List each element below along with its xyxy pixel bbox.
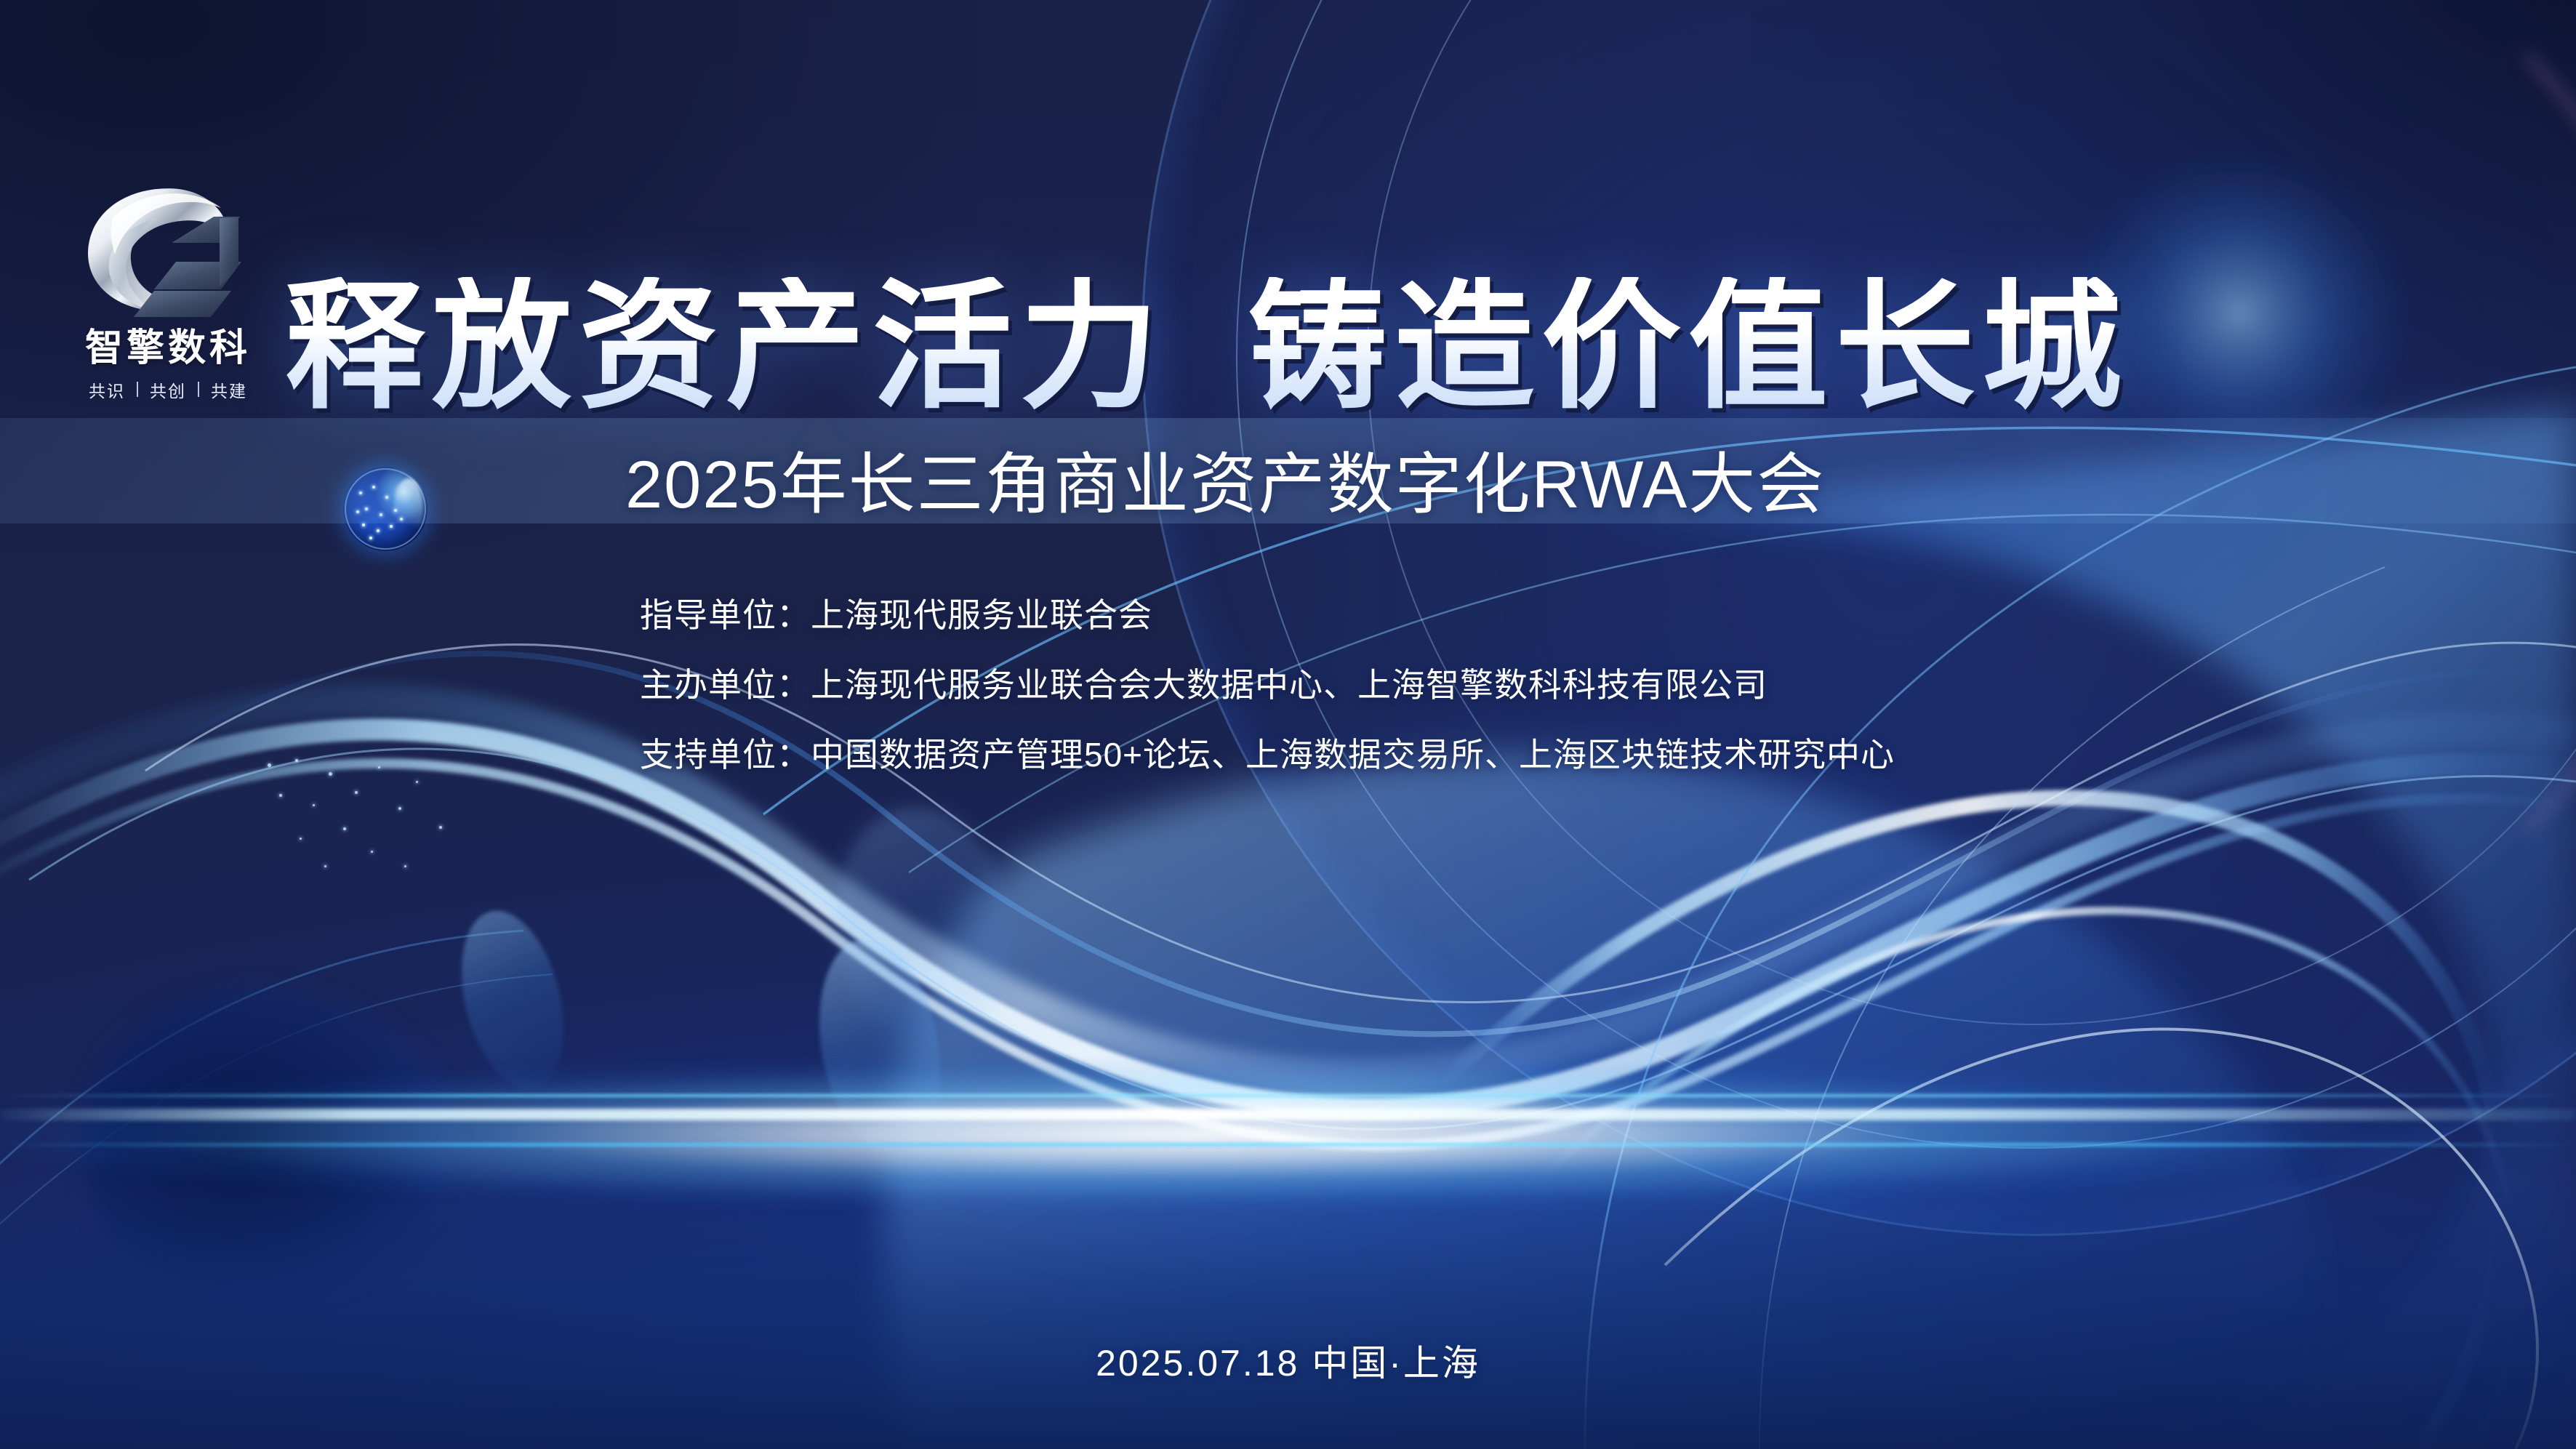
glow-accent-lower: [0, 1143, 2576, 1147]
page-title: 释放资产活力 · 铸造价值长城: [285, 277, 2129, 417]
logo-tagline-item-3: 共建: [211, 377, 247, 402]
organizer-list: 指导单位：上海现代服务业联合会 主办单位：上海现代服务业联合会大数据中心、上海智…: [640, 589, 1895, 776]
logo-tagline-separator-1: [137, 382, 138, 397]
headline-part-left: 释放资产活力: [285, 277, 1166, 417]
conference-banner: 智擎数科 共识 共创 共建 释放资产活力 · 铸造价值长城 2025年长三角商业…: [0, 0, 2576, 1449]
glow-core-line: [0, 1109, 2576, 1120]
organizer-line-support: 支持单位：中国数据资产管理50+论坛、上海数据交易所、上海区块链技术研究中心: [640, 728, 1895, 776]
background-bottom-shade: [0, 1188, 2576, 1449]
logo-tagline-item-2: 共创: [150, 377, 186, 402]
logo-mark-svg: [70, 173, 266, 327]
logo-tagline-item-1: 共识: [89, 377, 125, 402]
headline-part-right: 铸造价值长城: [1248, 277, 2129, 417]
sparkle-dust-cluster: [262, 756, 480, 887]
logo-tagline-separator-2: [198, 382, 199, 397]
logo-company-name: 智擎数科: [70, 329, 266, 369]
logo-swoosh-g-icon: [70, 173, 266, 327]
event-date-location: 2025.07.18 中国·上海: [0, 1334, 2576, 1386]
headline-separator-dot: ·: [1166, 295, 1248, 404]
company-logo[interactable]: 智擎数科 共识 共创 共建: [70, 173, 266, 398]
organizer-line-guidance: 指导单位：上海现代服务业联合会: [640, 589, 1895, 637]
logo-tagline: 共识 共创 共建: [70, 377, 266, 402]
organizer-line-host: 主办单位：上海现代服务业联合会大数据中心、上海智擎数科科技有限公司: [640, 659, 1895, 707]
event-subtitle: 2025年长三角商业资产数字化RWA大会: [625, 430, 1825, 527]
glow-accent-upper: [0, 1094, 2576, 1097]
